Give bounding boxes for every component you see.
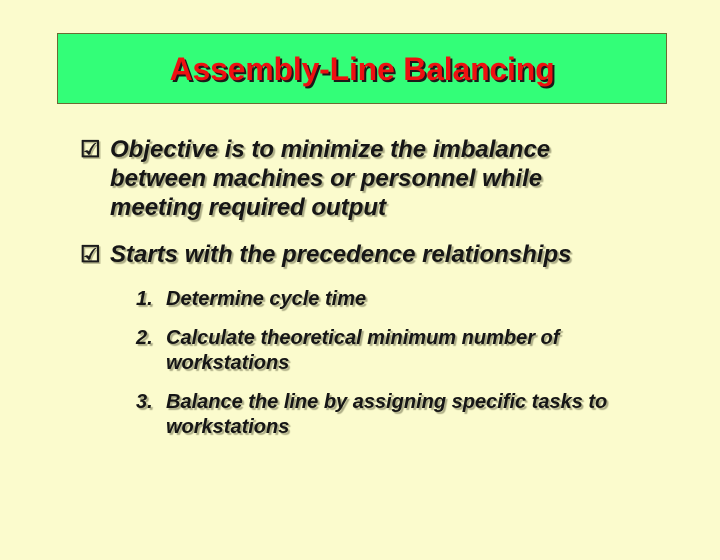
- page-title: Assembly-Line Balancing: [170, 53, 555, 85]
- list-item-label: Determine cycle time: [166, 287, 636, 312]
- list-item: 3. Balance the line by assigning specifi…: [136, 390, 680, 440]
- list-item: 1. Determine cycle time: [136, 287, 680, 312]
- ballot-box-with-check-icon: ☑: [80, 240, 110, 269]
- bullet-item: ☑ Starts with the precedence relationshi…: [80, 240, 680, 269]
- slide-body-content: ☑ Objective is to minimize the imbalance…: [80, 135, 680, 454]
- list-item: 2. Calculate theoretical minimum number …: [136, 326, 680, 376]
- list-item-number: 1.: [136, 287, 166, 312]
- ballot-box-with-check-icon: ☑: [80, 135, 110, 164]
- slide-canvas: Assembly-Line Balancing ☑ Objective is t…: [0, 0, 720, 560]
- list-item-label: Balance the line by assigning specific t…: [166, 390, 636, 440]
- bullet-item-label: Objective is to minimize the imbalance b…: [110, 135, 585, 222]
- bullet-item: ☑ Objective is to minimize the imbalance…: [80, 135, 680, 222]
- bullet-item-label: Starts with the precedence relationships: [110, 240, 585, 269]
- numbered-step-list: 1. Determine cycle time 2. Calculate the…: [136, 287, 680, 440]
- slide-title-box: Assembly-Line Balancing: [57, 33, 667, 104]
- list-item-number: 2.: [136, 326, 166, 351]
- list-item-label: Calculate theoretical minimum number of …: [166, 326, 636, 376]
- list-item-number: 3.: [136, 390, 166, 415]
